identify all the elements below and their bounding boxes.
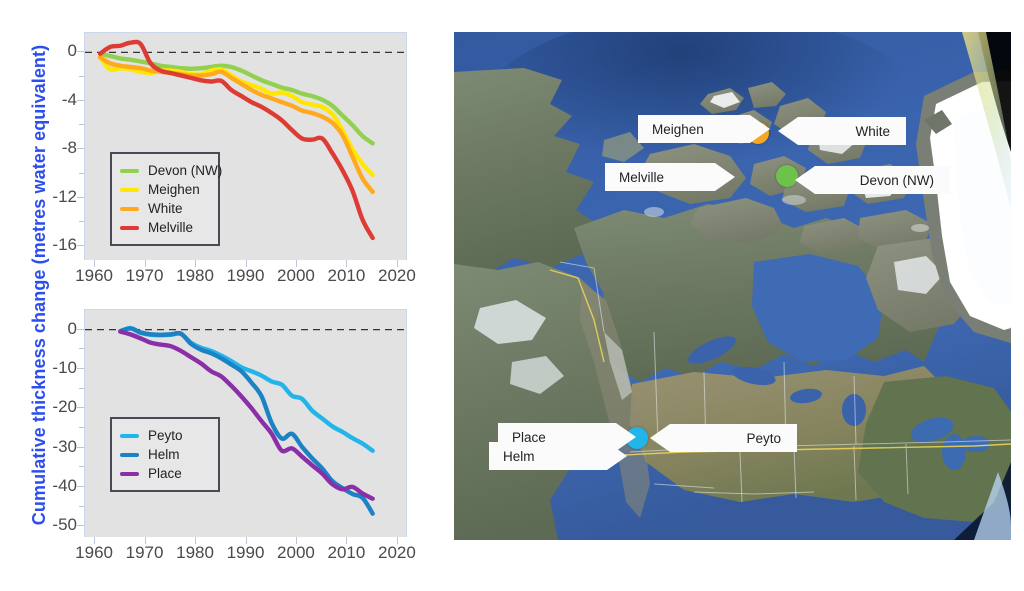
callout-label: Meighen <box>652 122 704 137</box>
legend-label: Meighen <box>148 182 200 197</box>
y-tick-mark-minor <box>79 124 84 125</box>
x-tick-mark <box>246 537 247 544</box>
map-north-america[interactable]: MeighenWhiteMelvilleDevon (NW)PlaceHelmP… <box>454 32 1011 540</box>
y-tick-label: -20 <box>35 397 77 417</box>
y-tick-label: 0 <box>35 319 77 339</box>
callout-label: Melville <box>619 170 664 185</box>
legend-color-swatch <box>120 169 139 173</box>
legend-label: Place <box>148 466 182 481</box>
legend-label: White <box>148 201 183 216</box>
legend-item: White <box>120 199 208 218</box>
x-tick-mark <box>397 260 398 267</box>
y-tick-label: -40 <box>35 476 77 496</box>
legend-label: Melville <box>148 220 193 235</box>
callout-peyto[interactable]: Peyto <box>650 424 797 452</box>
y-tick-label: 0 <box>35 41 77 61</box>
chart-western-glaciers: 0-10-20-30-40-50196019701980199020002010… <box>0 300 440 591</box>
x-tick-mark <box>94 537 95 544</box>
legend-color-swatch <box>120 226 139 230</box>
y-tick-mark <box>77 447 84 448</box>
x-tick-label: 2020 <box>367 266 427 286</box>
x-tick-mark <box>94 260 95 267</box>
legend-color-swatch <box>120 207 139 211</box>
x-tick-mark <box>296 260 297 267</box>
x-tick-mark <box>346 260 347 267</box>
callout-label: White <box>855 124 890 139</box>
legend-item: Devon (NW) <box>120 161 208 180</box>
legend-item: Peyto <box>120 426 208 445</box>
x-tick-mark <box>195 260 196 267</box>
legend-label: Helm <box>148 447 180 462</box>
callout-meighen[interactable]: Meighen <box>638 115 770 143</box>
y-tick-mark <box>77 245 84 246</box>
callout-helm[interactable]: Helm <box>489 442 627 470</box>
legend-label: Devon (NW) <box>148 163 222 178</box>
callout-label: Helm <box>503 449 535 464</box>
x-tick-mark <box>195 537 196 544</box>
callout-label: Peyto <box>746 431 781 446</box>
y-tick-mark-minor <box>79 466 84 467</box>
y-tick-label: -12 <box>35 187 77 207</box>
y-tick-label: -50 <box>35 515 77 535</box>
y-tick-label: -10 <box>35 358 77 378</box>
y-tick-mark <box>77 368 84 369</box>
callout-melville[interactable]: Melville <box>605 163 735 191</box>
y-tick-mark <box>77 197 84 198</box>
map-winnipeg-lake <box>842 394 866 426</box>
x-tick-label: 2020 <box>367 543 427 563</box>
y-tick-mark <box>77 486 84 487</box>
map-snow-patch-3 <box>911 224 929 232</box>
y-tick-label: -4 <box>35 90 77 110</box>
y-tick-label: -16 <box>35 235 77 255</box>
legend-color-swatch <box>120 453 139 457</box>
map-snow-patch-1 <box>644 207 664 217</box>
x-tick-mark <box>246 260 247 267</box>
x-tick-mark <box>296 537 297 544</box>
x-tick-mark <box>397 537 398 544</box>
y-tick-mark <box>77 148 84 149</box>
map-snow-patch-2 <box>782 195 806 205</box>
legend-item: Place <box>120 464 208 483</box>
y-tick-mark-minor <box>79 348 84 349</box>
callout-white[interactable]: White <box>778 117 906 145</box>
y-tick-mark <box>77 329 84 330</box>
y-tick-label: -30 <box>35 437 77 457</box>
chart-arctic-ice-caps: 0-4-8-12-161960197019801990200020102020 … <box>0 0 440 300</box>
x-tick-mark <box>346 537 347 544</box>
y-tick-mark-minor <box>79 76 84 77</box>
x-tick-mark <box>145 537 146 544</box>
y-tick-mark <box>77 407 84 408</box>
y-tick-mark <box>77 100 84 101</box>
legend-item: Melville <box>120 218 208 237</box>
y-tick-mark <box>77 525 84 526</box>
callout-label: Devon (NW) <box>860 173 934 188</box>
y-tick-label: -8 <box>35 138 77 158</box>
legend-color-swatch <box>120 434 139 438</box>
legend-color-swatch <box>120 188 139 192</box>
x-tick-mark <box>145 260 146 267</box>
y-tick-mark-minor <box>79 173 84 174</box>
callout-devon[interactable]: Devon (NW) <box>795 166 950 194</box>
devon-marker[interactable] <box>776 165 798 187</box>
legend-label: Peyto <box>148 428 183 443</box>
legend-item: Helm <box>120 445 208 464</box>
legend-color-swatch <box>120 472 139 476</box>
legend-arctic: Devon (NW)MeighenWhiteMelville <box>110 152 220 246</box>
legend-western: PeytoHelmPlace <box>110 417 220 492</box>
legend-item: Meighen <box>120 180 208 199</box>
y-tick-mark-minor <box>79 427 84 428</box>
y-tick-mark-minor <box>79 388 84 389</box>
y-tick-mark-minor <box>79 506 84 507</box>
y-tick-mark <box>77 51 84 52</box>
y-tick-mark-minor <box>79 221 84 222</box>
